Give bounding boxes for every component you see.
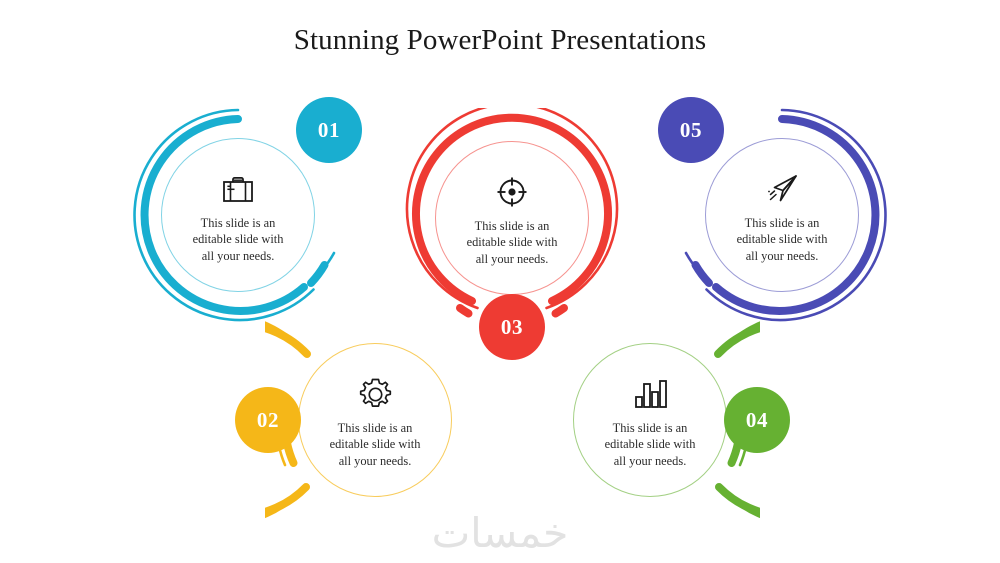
info-node-03[interactable]: This slide is an editable slide with all… bbox=[402, 108, 622, 328]
node-badge-02[interactable]: 02 bbox=[235, 387, 301, 453]
gear-icon bbox=[355, 375, 395, 413]
node-number-01: 01 bbox=[318, 118, 340, 143]
node-content-03: This slide is an editable slide with all… bbox=[435, 141, 589, 295]
watermark: خمسات bbox=[0, 509, 1000, 557]
node-content-02: This slide is an editable slide with all… bbox=[298, 343, 452, 497]
node-badge-03[interactable]: 03 bbox=[479, 294, 545, 360]
info-node-04[interactable]: This slide is an editable slide with all… bbox=[540, 310, 760, 530]
node-content-05: This slide is an editable slide with all… bbox=[705, 138, 859, 292]
node-body-text-03: This slide is an editable slide with all… bbox=[444, 218, 580, 266]
info-node-01[interactable]: This slide is an editable slide with all… bbox=[128, 105, 348, 325]
node-badge-05[interactable]: 05 bbox=[658, 97, 724, 163]
node-number-02: 02 bbox=[257, 408, 279, 433]
node-content-01: This slide is an editable slide with all… bbox=[161, 138, 315, 292]
info-node-05[interactable]: This slide is an editable slide with all… bbox=[672, 105, 892, 325]
info-node-02[interactable]: This slide is an editable slide with all… bbox=[265, 310, 485, 530]
bar-chart-icon bbox=[630, 375, 670, 413]
briefcase-icon bbox=[218, 170, 258, 208]
crosshair-icon bbox=[492, 173, 532, 211]
presentation-slide: Stunning PowerPoint Presentations bbox=[0, 0, 1000, 563]
node-body-text-01: This slide is an editable slide with all… bbox=[170, 215, 306, 263]
node-number-03: 03 bbox=[501, 315, 523, 340]
node-badge-04[interactable]: 04 bbox=[724, 387, 790, 453]
node-body-text-02: This slide is an editable slide with all… bbox=[307, 420, 443, 468]
page-title: Stunning PowerPoint Presentations bbox=[0, 24, 1000, 57]
paper-plane-icon bbox=[762, 170, 802, 208]
node-number-04: 04 bbox=[746, 408, 768, 433]
node-content-04: This slide is an editable slide with all… bbox=[573, 343, 727, 497]
node-badge-01[interactable]: 01 bbox=[296, 97, 362, 163]
node-number-05: 05 bbox=[680, 118, 702, 143]
node-body-text-05: This slide is an editable slide with all… bbox=[714, 215, 850, 263]
node-body-text-04: This slide is an editable slide with all… bbox=[582, 420, 718, 468]
